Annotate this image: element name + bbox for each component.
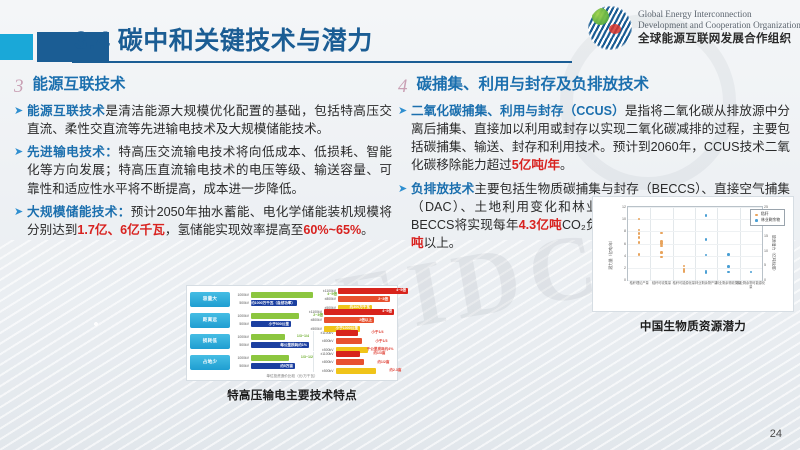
uhv-row-tag: 距离远: [190, 313, 230, 328]
legend-label: 林业剩余物: [761, 218, 780, 224]
uhv-ac-group: 1000kV 1/3~1/4 500kV 每公里损耗约1%: [232, 333, 310, 349]
section-title: 能源互联技术: [33, 76, 126, 94]
figure-caption-biomass: 中国生物质资源潜力: [592, 318, 794, 334]
section-number: 3: [14, 76, 24, 96]
y-axis-tick-label-right: 15: [764, 234, 768, 238]
uhv-bar: 每公里损耗约1%: [251, 342, 309, 348]
bullet-body-text-c: 以上。: [424, 236, 462, 250]
biomass-plot-area: 0246810120510152025秸秆理论产量秸秆可收集量秸秆可能源化量林业…: [627, 206, 763, 281]
uhv-voltage-label: 500kV: [232, 301, 249, 305]
uhv-bar: 约1/2亩: [336, 359, 364, 365]
uhv-bar: 4~5倍: [338, 288, 408, 294]
uhv-voltage-label: ±800kV: [305, 318, 322, 322]
uhv-bar-line: 1000kV 1/3~1/4: [232, 333, 310, 340]
page-number: 24: [770, 428, 782, 440]
uhv-bar: 4~5倍: [324, 309, 394, 315]
scatter-point: [727, 271, 730, 274]
uhv-divider: [313, 331, 314, 351]
scatter-point: [683, 270, 686, 273]
bullet-text: 大规模储能技术：预计2050年抽水蓄能、电化学储能装机规模将分别达到1.7亿、6…: [27, 203, 392, 239]
scatter-point: [638, 236, 641, 239]
uhv-bar-line: 1000kV 1/3~1/2: [232, 354, 310, 361]
bullet-keyword: 大规模储能技术：: [27, 205, 131, 219]
uhv-bar-value: 小于1/3: [375, 339, 387, 344]
uhv-bar: 2~3倍: [251, 313, 299, 319]
grid-line-horizontal: [628, 219, 762, 220]
y-axis-tick-label: 4: [624, 254, 626, 258]
uhv-bar-value: 约1000万千瓦（自然功率）: [251, 301, 295, 306]
scatter-point: [727, 253, 730, 256]
grid-line-horizontal: [628, 244, 762, 245]
bullet-text: 能源互联技术是清洁能源大规模优化配置的基础，包括特高压交直流、柔性交直流等先进输…: [27, 102, 392, 138]
uhv-bar: 1/3~1/2: [251, 355, 289, 361]
uhv-bar: 4~5倍: [251, 292, 313, 298]
uhv-bar-value: 2~3倍: [378, 297, 388, 302]
uhv-bar-value: 1/3~1/2: [301, 355, 313, 359]
uhv-bar-line: 500kV 约1000万千瓦（自然功率）: [232, 300, 313, 307]
globe-icon: [588, 6, 632, 50]
uhv-bar: 约5万亩: [251, 363, 295, 369]
uhv-row-tag: 容量大: [190, 292, 230, 307]
legend-marker-icon: [755, 219, 758, 222]
uhv-bar: 约1/3亩: [336, 351, 360, 357]
uhv-ac-group: 1000kV 2~3倍 500kV 小于500公里: [232, 312, 299, 328]
biomass-scatter-chart: 潜力量（亿吨/年） 能源潜力（亿吨标煤） 0246810120510152025…: [592, 196, 794, 312]
bullet-keyword: 负排放技术: [411, 182, 474, 196]
bullet-keyword: 能源互联技术: [27, 104, 105, 118]
uhv-voltage-label: 500kV: [232, 364, 249, 368]
uhv-bar-value: 约1/3亩: [373, 351, 385, 356]
grid-line-horizontal: [628, 207, 762, 208]
bullet-body-text-b: ，氢储能实现效率提高至: [165, 223, 304, 237]
uhv-voltage-label: ±800kV: [319, 297, 336, 301]
bullet-highlight-a: 4.3亿吨: [519, 218, 562, 232]
scatter-point: [638, 232, 641, 235]
bullet-body-text-b: 。: [560, 158, 573, 172]
y-axis-tick-label-right: 5: [764, 263, 766, 267]
biomass-y-axis-label: 潜力量（亿吨/年）: [609, 238, 614, 269]
bullet-text: 先进输电技术：特高压交流输电技术将向低成本、低损耗、智能化等方向发展；特高压直流…: [27, 143, 392, 197]
uhv-bar: 2倍以上: [324, 317, 374, 323]
uhv-bar-line: ±1100kV 约1/3亩: [317, 350, 395, 357]
uhv-bar-value: 小于1/4: [371, 330, 383, 335]
figure-biomass-potential: 潜力量（亿吨/年） 能源潜力（亿吨标煤） 0246810120510152025…: [592, 196, 794, 334]
uhv-bar-line: 500kV 约5万亩: [232, 363, 310, 370]
slide: GEIDCO 3.4 碳中和关键技术与潜力 Global Energy Inte…: [0, 0, 800, 450]
slide-header: 3.4 碳中和关键技术与潜力 Global Energy Interconnec…: [0, 0, 800, 68]
uhv-ac-group: 1000kV 1/3~1/2 500kV 约5万亩: [232, 354, 310, 370]
uhv-voltage-label: ±800kV: [317, 339, 334, 343]
uhv-bar: 小于500公里: [251, 321, 291, 327]
uhv-bar: 小于1/4: [336, 330, 358, 336]
uhv-row: 容量大 1000kV 4~5倍 500kV 约1000万千瓦（自然功率）: [190, 289, 394, 309]
scatter-point: [660, 232, 663, 235]
scatter-point: [660, 256, 663, 259]
bullet-arrow-icon: ➤: [14, 143, 27, 161]
scatter-point: [660, 245, 663, 248]
y-axis-tick-label: 10: [622, 217, 626, 221]
uhv-row: 占地少 1000kV 1/3~1/2 500kV 约5万亩: [190, 352, 394, 372]
section-heading-energy-interconnection: 3 能源互联技术: [14, 76, 392, 96]
grid-line-horizontal: [628, 268, 762, 269]
bullet-item: ➤ 能源互联技术是清洁能源大规模优化配置的基础，包括特高压交直流、柔性交直流等先…: [14, 102, 392, 138]
uhv-voltage-label: 500kV: [232, 343, 249, 347]
uhv-bar-value: 每公里损耗约1%: [280, 343, 307, 348]
uhv-voltage-label: 1000kV: [232, 314, 249, 318]
uhv-bar-value: 4~5倍: [382, 309, 392, 314]
logo-english-line2: Development and Cooperation Organization: [638, 20, 800, 31]
bullet-arrow-icon: ➤: [14, 203, 27, 221]
uhv-bar: 约2.3亩: [336, 368, 376, 374]
scatter-point: [705, 271, 708, 274]
uhv-row-tag: 损耗低: [190, 334, 230, 349]
uhv-bar-value: 小于500公里: [269, 322, 289, 327]
uhv-bar: 2~3倍: [338, 296, 390, 302]
uhv-bar-line: 1000kV 4~5倍: [232, 291, 313, 298]
header-accent-square-light: [0, 34, 33, 60]
uhv-bar-value: 约1/2亩: [377, 360, 389, 365]
bullet-body-text-c: 。: [361, 223, 374, 237]
x-axis-tick-label: 林业剩余物可能源化量: [736, 282, 766, 289]
bullet-arrow-icon: ➤: [398, 180, 411, 198]
uhv-bar: 1/3~1/4: [251, 334, 285, 340]
scatter-point: [705, 214, 708, 217]
uhv-voltage-label: 1000kV: [232, 293, 249, 297]
uhv-bar: 约1000万千瓦（自然功率）: [251, 300, 297, 306]
bullet-highlight-a: 1.7亿、6亿千瓦: [77, 223, 164, 237]
uhv-voltage-label: ±500kV: [317, 369, 334, 373]
uhv-bar-line: ±800kV 约1/2亩: [317, 359, 395, 366]
figure-uhv-comparison: 容量大 1000kV 4~5倍 500kV 约1000万千瓦（自然功率）: [186, 285, 398, 403]
uhv-chart: 容量大 1000kV 4~5倍 500kV 约1000万千瓦（自然功率）: [186, 285, 398, 381]
uhv-row: 距离远 1000kV 2~3倍 500kV 小于500公里: [190, 310, 394, 330]
y-axis-tick-label: 12: [622, 205, 626, 209]
uhv-bar-value: 1/3~1/4: [297, 334, 309, 338]
logo-english-line1: Global Energy Interconnection: [638, 9, 800, 20]
y-axis-tick-label: 6: [624, 242, 626, 246]
header-underline: [72, 61, 572, 63]
y-axis-tick-label: 8: [624, 229, 626, 233]
uhv-voltage-label: 1000kV: [232, 335, 249, 339]
logo-text-block: Global Energy Interconnection Developmen…: [638, 9, 800, 46]
uhv-bar-line: ±800kV 小于1/3: [317, 338, 395, 345]
uhv-bar-line: 1000kV 2~3倍: [232, 312, 299, 319]
bullet-arrow-icon: ➤: [14, 102, 27, 120]
uhv-bar-line: ±500kV 约2.3亩: [317, 367, 395, 374]
uhv-bar-value: 2~3倍: [313, 313, 323, 318]
uhv-voltage-label: ±800kV: [317, 360, 334, 364]
uhv-bar-value: 4~5倍: [396, 288, 406, 293]
uhv-bar-value: 约2.3亩: [389, 368, 401, 373]
bullet-text: 二氧化碳捕集、利用与封存（CCUS）是指将二氧化碳从排放源中分离后捕集、直接加以…: [411, 102, 790, 175]
section-heading-ccus: 4 碳捕集、利用与封存及负排放技术: [398, 76, 790, 96]
grid-line-horizontal: [628, 231, 762, 232]
scatter-point: [750, 271, 753, 274]
uhv-row: 损耗低 1000kV 1/3~1/4 500kV 每公里损耗约1%: [190, 331, 394, 351]
legend-marker-icon: [755, 214, 758, 217]
uhv-bar-value: 4~5倍: [327, 292, 337, 297]
grid-line-horizontal: [628, 256, 762, 257]
scatter-point: [705, 238, 708, 241]
bullet-highlight-a: 5亿吨/年: [512, 158, 560, 172]
scatter-point: [660, 251, 663, 254]
bullet-keyword: 二氧化碳捕集、利用与封存（CCUS）: [411, 104, 625, 118]
uhv-footnote: 单位投资造价比较（元/万千瓦）: [190, 374, 394, 379]
scatter-point: [727, 265, 730, 268]
uhv-bar-line: 500kV 小于500公里: [232, 321, 299, 328]
bullet-item: ➤ 大规模储能技术：预计2050年抽水蓄能、电化学储能装机规模将分别达到1.7亿…: [14, 203, 392, 239]
uhv-voltage-label: ±1100kV: [317, 352, 334, 356]
logo-chinese-name: 全球能源互联网发展合作组织: [638, 33, 800, 47]
left-column: 3 能源互联技术 ➤ 能源互联技术是清洁能源大规模优化配置的基础，包括特高压交直…: [14, 76, 392, 244]
uhv-bar-value: 约5万亩: [280, 364, 293, 369]
page-title: 3.4 碳中和关键技术与潜力: [74, 21, 373, 57]
uhv-voltage-label: 1000kV: [232, 356, 249, 360]
uhv-dc-group: ±1100kV 约1/3亩 ±800kV 约1/2亩 ±500kV 约2.3亩: [317, 350, 395, 374]
uhv-bar-value: 2倍以上: [359, 318, 372, 323]
organization-logo: Global Energy Interconnection Developmen…: [588, 6, 800, 50]
uhv-ac-group: 1000kV 4~5倍 500kV 约1000万千瓦（自然功率）: [232, 291, 313, 307]
uhv-bar-line: 500kV 每公里损耗约1%: [232, 342, 310, 349]
figure-caption-uhv: 特高压输电主要技术特点: [186, 387, 398, 403]
bullet-item: ➤ 先进输电技术：特高压交流输电技术将向低成本、低损耗、智能化等方向发展；特高压…: [14, 143, 392, 197]
y-axis-tick-label: 2: [624, 266, 626, 270]
bullet-highlight-b: 60%~65%: [303, 223, 361, 237]
uhv-bar: 小于1/3: [336, 338, 362, 344]
biomass-y-axis-label-right: 能源潜力（亿吨标煤）: [771, 235, 776, 273]
bullet-arrow-icon: ➤: [398, 102, 411, 120]
uhv-row-tag: 占地少: [190, 355, 230, 370]
bullet-item: ➤ 二氧化碳捕集、利用与封存（CCUS）是指将二氧化碳从排放源中分离后捕集、直接…: [398, 102, 790, 175]
section-title: 碳捕集、利用与封存及负排放技术: [417, 76, 650, 94]
biomass-legend: 秸秆 林业剩余物: [750, 209, 785, 226]
section-number: 4: [398, 76, 408, 96]
legend-item: 林业剩余物: [755, 218, 780, 224]
bullet-keyword: 先进输电技术：: [27, 145, 118, 159]
y-axis-tick-label-right: 10: [764, 249, 768, 253]
uhv-voltage-label: 500kV: [232, 322, 249, 326]
